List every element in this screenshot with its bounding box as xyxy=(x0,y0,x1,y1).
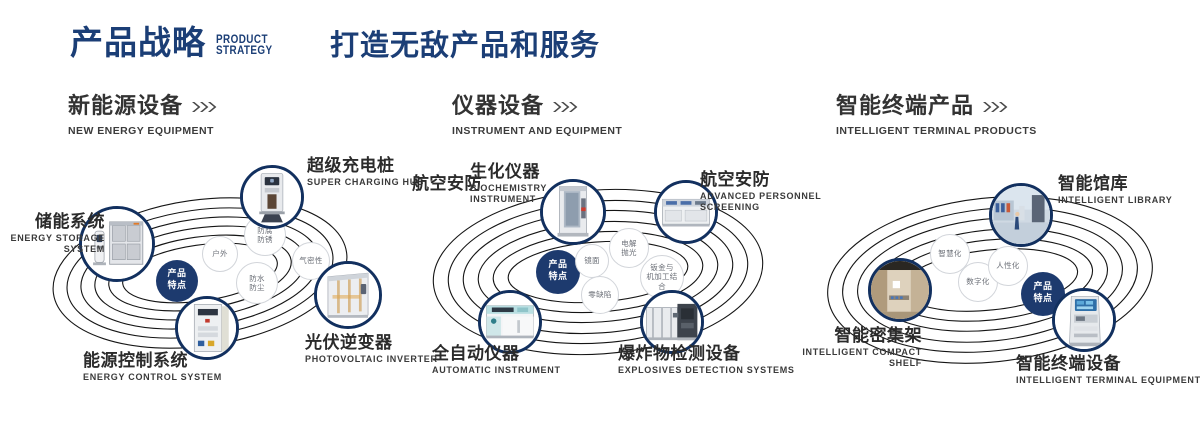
section-title-intelligent-terminal: 智能终端产品 INTELLIGENT TERMINAL PRODUCTS xyxy=(836,96,1037,137)
section-title-en: NEW ENERGY EQUIPMENT xyxy=(68,125,222,137)
node-label-en: ENERGY CONTROL SYSTEM xyxy=(83,373,222,382)
node-super-charging-hub[interactable] xyxy=(240,165,304,229)
feature-bubble-label: 零缺陷 xyxy=(588,290,611,299)
biochemistry-scanner-photo xyxy=(543,182,603,242)
core-bubble-line2: 特点 xyxy=(548,272,567,282)
automatic-instrument-photo xyxy=(481,293,539,351)
node-label-explosives-detection: 爆炸物检测设备 EXPLOSIVES DETECTION SYSTEMS xyxy=(618,346,795,375)
feature-bubble-label: 人性化 xyxy=(996,261,1019,270)
cluster-instrument: 产品 特点 镜面 电解抛光 零缺陷 钣金与机加工结合 航空安防 xyxy=(400,150,800,400)
library-interior-photo xyxy=(992,186,1050,244)
node-label-cn: 全自动仪器 xyxy=(432,346,561,364)
node-terminal-equipment[interactable] xyxy=(1052,288,1116,352)
section-title-cn: 新能源设备 xyxy=(68,96,183,118)
node-label-energy-storage: 储能系统 ENERGY STORAGE SYSTEM xyxy=(0,214,105,255)
feature-bubble: 镜面 xyxy=(575,244,609,278)
feature-bubble-label: 数字化 xyxy=(966,277,989,286)
cluster-intelligent-terminal: 产品 特点 智慧化 数字化 人性化 xyxy=(800,150,1200,400)
node-label-cn: 储能系统 xyxy=(0,214,105,232)
node-label-en-line2: SYSTEM xyxy=(0,245,105,254)
core-bubble-line1: 产品 xyxy=(167,269,186,279)
core-bubble: 产品 特点 xyxy=(156,260,198,302)
chevron-right-icon xyxy=(553,101,583,113)
chevron-right-icon xyxy=(192,101,222,113)
infographic-canvas: 产品战略 PRODUCT STRATEGY 打造无敌产品和服务 新能源设备 NE… xyxy=(0,0,1200,422)
feature-bubble-label: 镜面 xyxy=(584,256,600,265)
page-title: 产品战略 PRODUCT STRATEGY xyxy=(70,26,282,59)
section-title-en: INTELLIGENT TERMINAL PRODUCTS xyxy=(836,125,1037,137)
core-bubble-line2: 特点 xyxy=(1033,294,1052,304)
self-service-kiosk-photo xyxy=(1055,291,1113,349)
feature-bubble-label: 智慧化 xyxy=(938,249,961,258)
feature-bubble-label: 户外 xyxy=(212,249,228,258)
section-title-instrument: 仪器设备 INSTRUMENT AND EQUIPMENT xyxy=(452,96,622,137)
core-bubble: 产品 特点 xyxy=(536,250,580,294)
charging-pile-photo xyxy=(243,168,301,226)
node-label-en-line2: INSTRUMENT xyxy=(470,195,547,204)
node-label-cn: 智能密集架 xyxy=(790,328,922,346)
node-label-en-line1: BIOCHEMISTRY xyxy=(470,184,547,193)
page-title-en: PRODUCT STRATEGY xyxy=(216,35,273,57)
page-slogan: 打造无敌产品和服务 xyxy=(330,30,600,62)
cluster-new-energy: 产品 特点 户外 防腐防锈 防水防尘 气密性 xyxy=(10,150,410,400)
core-bubble-line1: 产品 xyxy=(548,260,567,270)
control-cabinet-photo xyxy=(178,299,236,357)
feature-bubble-label: 钣金与机加工结合 xyxy=(643,263,681,291)
page-title-en-line2: STRATEGY xyxy=(216,46,273,57)
node-photovoltaic-inverter[interactable] xyxy=(314,261,382,329)
node-label-en: AUTOMATIC INSTRUMENT xyxy=(432,366,561,375)
node-label-biochemistry-instrument: 生化仪器 BIOCHEMISTRY INSTRUMENT xyxy=(470,164,547,205)
section-title-cn: 智能终端产品 xyxy=(836,96,974,118)
node-label-en: EXPLOSIVES DETECTION SYSTEMS xyxy=(618,366,795,375)
feature-bubble-label: 电解抛光 xyxy=(621,239,637,258)
core-bubble-line1: 产品 xyxy=(1033,282,1052,292)
section-title-new-energy: 新能源设备 NEW ENERGY EQUIPMENT xyxy=(68,96,222,137)
node-label-terminal-equipment: 智能终端设备 INTELLIGENT TERMINAL EQUIPMENT xyxy=(1016,356,1200,385)
node-label-en-line1: ENERGY STORAGE xyxy=(0,234,105,243)
page-title-cn: 产品战略 xyxy=(70,26,206,59)
node-label-cn: 能源控制系统 xyxy=(83,353,222,371)
node-label-en: INTELLIGENT TERMINAL EQUIPMENT xyxy=(1016,376,1200,385)
section-title-en: INSTRUMENT AND EQUIPMENT xyxy=(452,125,622,137)
compact-shelf-photo xyxy=(871,261,929,319)
node-label-automatic-instrument: 全自动仪器 AUTOMATIC INSTRUMENT xyxy=(432,346,561,375)
node-label-energy-control-system: 能源控制系统 ENERGY CONTROL SYSTEM xyxy=(83,353,222,382)
node-label-intelligent-library: 智能馆库 INTELLIGENT LIBRARY xyxy=(1058,176,1172,205)
node-label-cn: 生化仪器 xyxy=(470,164,547,182)
node-label-cn: 智能馆库 xyxy=(1058,176,1172,194)
chevron-right-icon xyxy=(983,101,1013,113)
feature-bubble: 防水防尘 xyxy=(236,262,278,304)
node-label-en-line2: SHELF xyxy=(790,359,922,368)
node-compact-shelf[interactable] xyxy=(868,258,932,322)
node-label-en-line1: INTELLIGENT COMPACT xyxy=(790,348,922,357)
node-label-en: INTELLIGENT LIBRARY xyxy=(1058,196,1172,205)
node-label-compact-shelf: 智能密集架 INTELLIGENT COMPACT SHELF xyxy=(790,328,922,369)
node-intelligent-library[interactable] xyxy=(989,183,1053,247)
feature-bubble: 零缺陷 xyxy=(581,276,619,314)
feature-bubble: 户外 xyxy=(202,236,238,272)
feature-bubble-label: 防水防尘 xyxy=(249,274,265,293)
node-label-cn: 爆炸物检测设备 xyxy=(618,346,795,364)
pv-inverter-photo xyxy=(317,264,379,326)
node-label-cn: 智能终端设备 xyxy=(1016,356,1200,374)
core-bubble-line2: 特点 xyxy=(167,281,186,291)
section-title-cn: 仪器设备 xyxy=(452,96,544,118)
feature-bubble: 人性化 xyxy=(988,246,1028,286)
explosives-detector-photo xyxy=(643,293,701,351)
node-biochemistry-instrument[interactable] xyxy=(540,179,606,245)
